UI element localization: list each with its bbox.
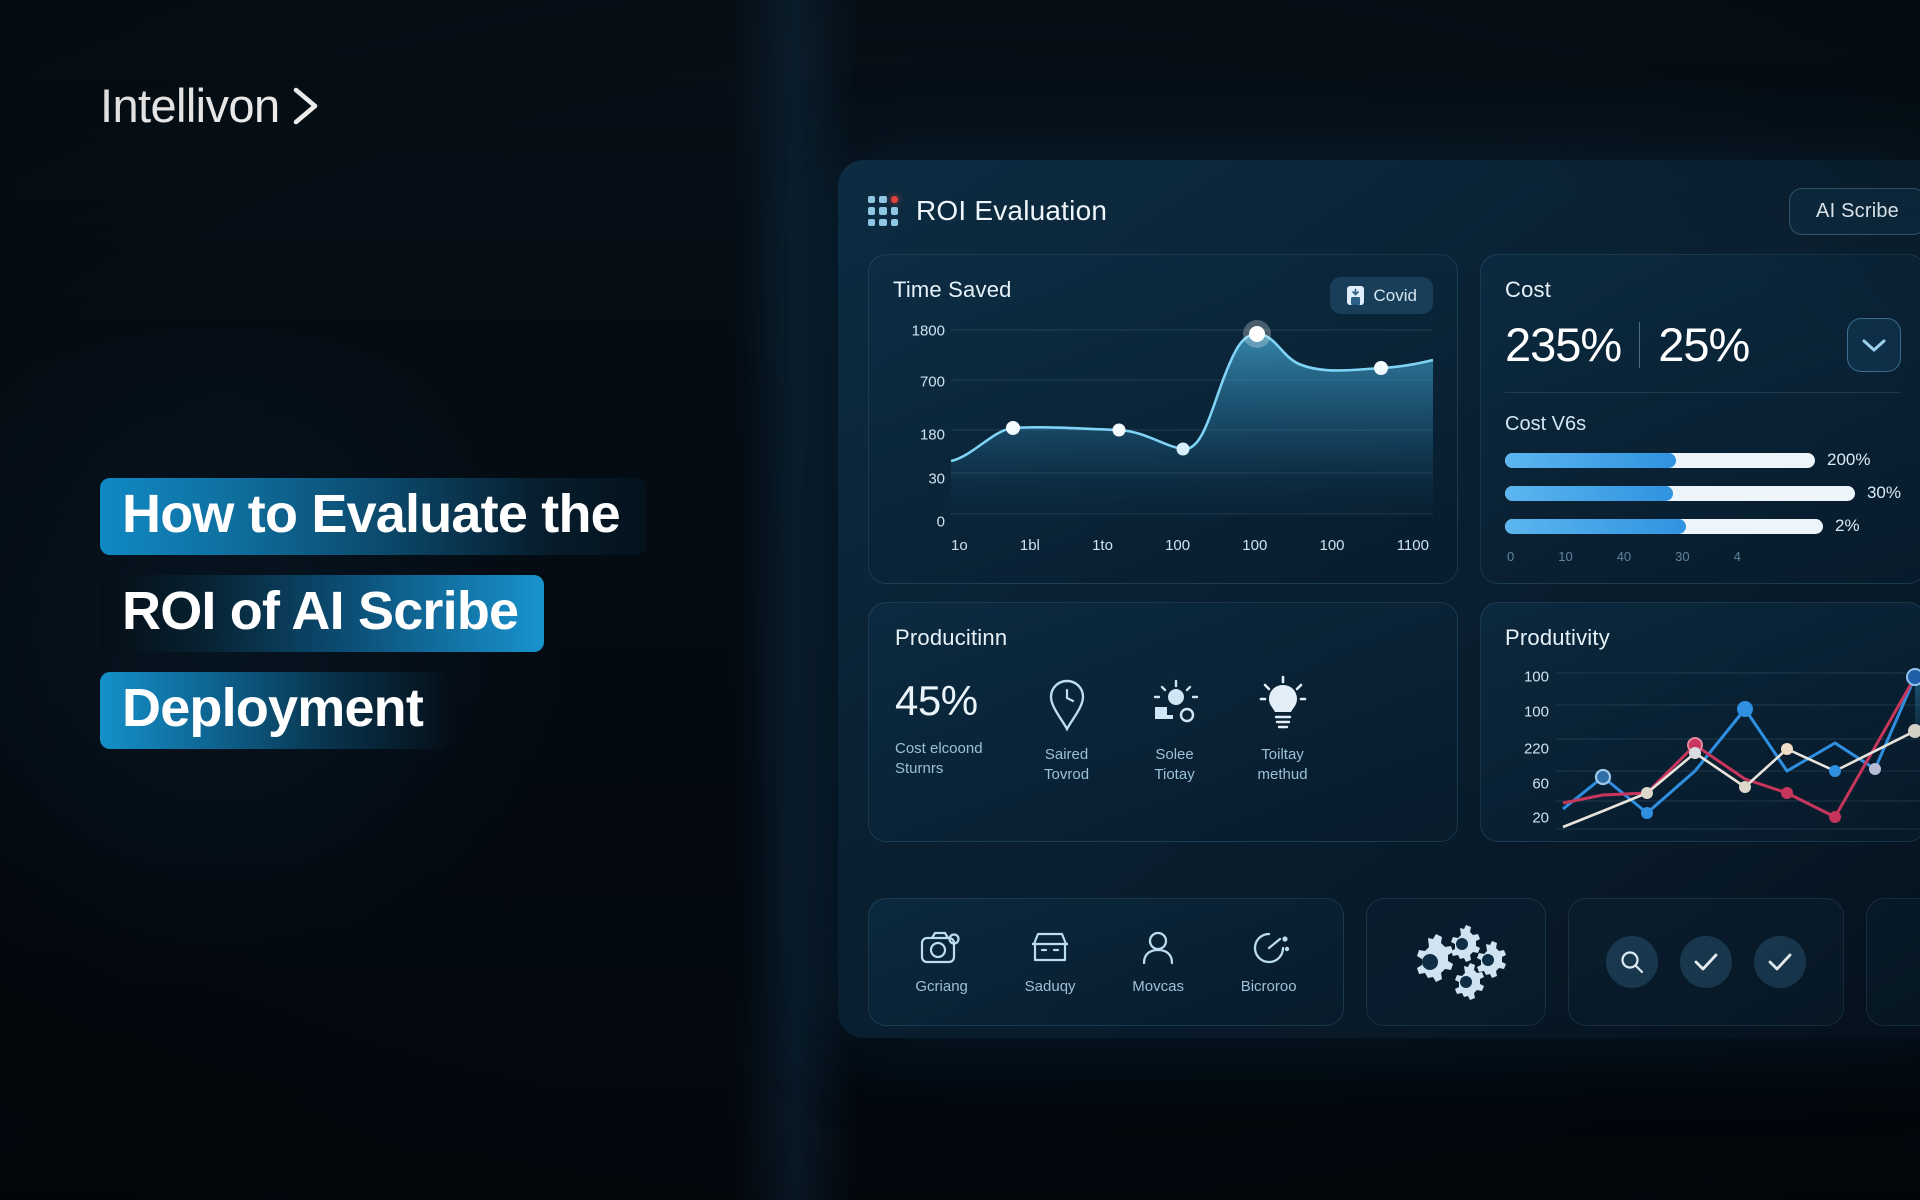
background-vignette: [0, 0, 1920, 1200]
